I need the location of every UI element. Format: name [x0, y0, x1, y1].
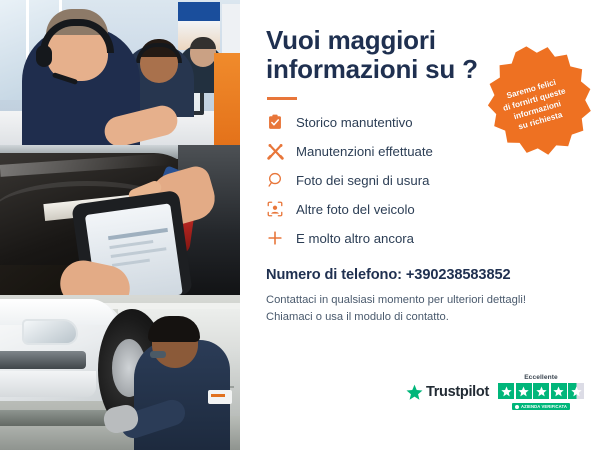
tyre-check-photo: [0, 295, 240, 450]
promo-banner: AUTO●: [0, 0, 600, 450]
list-item-label: Storico manutentivo: [296, 116, 413, 129]
star-filled: [498, 383, 514, 399]
rating-label: Eccellente: [524, 374, 558, 381]
list-item: E molto altro ancora: [266, 228, 578, 248]
scan-frame-icon: [266, 200, 284, 218]
list-item-label: Altre foto del veicolo: [296, 203, 415, 216]
vehicle-inspection-photo: AUTO●: [0, 145, 240, 295]
list-item-label: Manutenzioni effettuate: [296, 145, 433, 158]
contact-description: Contattaci in qualsiasi momento per ulte…: [266, 292, 578, 326]
star-rating: [498, 383, 584, 399]
list-item: Storico manutentivo: [266, 112, 578, 132]
trustpilot-name: Trustpilot: [426, 384, 489, 400]
star-filled: [533, 383, 549, 399]
call-center-photo: [0, 0, 240, 145]
tools-cross-icon: [266, 142, 284, 160]
magnifier-icon: [266, 171, 284, 189]
phone-number[interactable]: Numero di telefono: +390238583852: [266, 267, 578, 283]
list-item-label: Foto dei segni di usura: [296, 174, 429, 187]
list-item: Foto dei segni di usura: [266, 170, 578, 190]
clipboard-check-icon: [266, 113, 284, 131]
star-filled: [516, 383, 532, 399]
list-item: Altre foto del veicolo: [266, 199, 578, 219]
heading-line-1: Vuoi maggiori: [266, 26, 481, 55]
heading-line-2: informazioni su ?: [266, 55, 481, 84]
list-item-label: E molto altro ancora: [296, 232, 414, 245]
verified-label: AZIENDA VERIFICATA: [521, 404, 567, 409]
trustpilot-rating: Eccellente: [498, 374, 584, 410]
trustpilot-star-icon: [406, 384, 423, 401]
star-half: [568, 383, 584, 399]
star-filled: [551, 383, 567, 399]
verified-check-icon: [515, 405, 519, 409]
plus-icon: [266, 229, 284, 247]
contact-line-2: Chiamaci o usa il modulo di contatto.: [266, 309, 578, 326]
contact-line-1: Contattaci in qualsiasi momento per ulte…: [266, 292, 578, 309]
feature-list: Storico manutentivo Manutenzioni effettu…: [266, 112, 578, 248]
page-title: Vuoi maggiori informazioni su ?: [266, 26, 481, 84]
trustpilot-widget[interactable]: Trustpilot Eccellente: [406, 374, 584, 410]
photo-column: AUTO●: [0, 0, 240, 450]
content-panel: Saremo felici di fornirti queste informa…: [240, 0, 600, 450]
list-item: Manutenzioni effettuate: [266, 141, 578, 161]
verified-badge: AZIENDA VERIFICATA: [512, 403, 570, 410]
trustpilot-logo: Trustpilot: [406, 384, 489, 401]
title-underline: [267, 97, 297, 100]
